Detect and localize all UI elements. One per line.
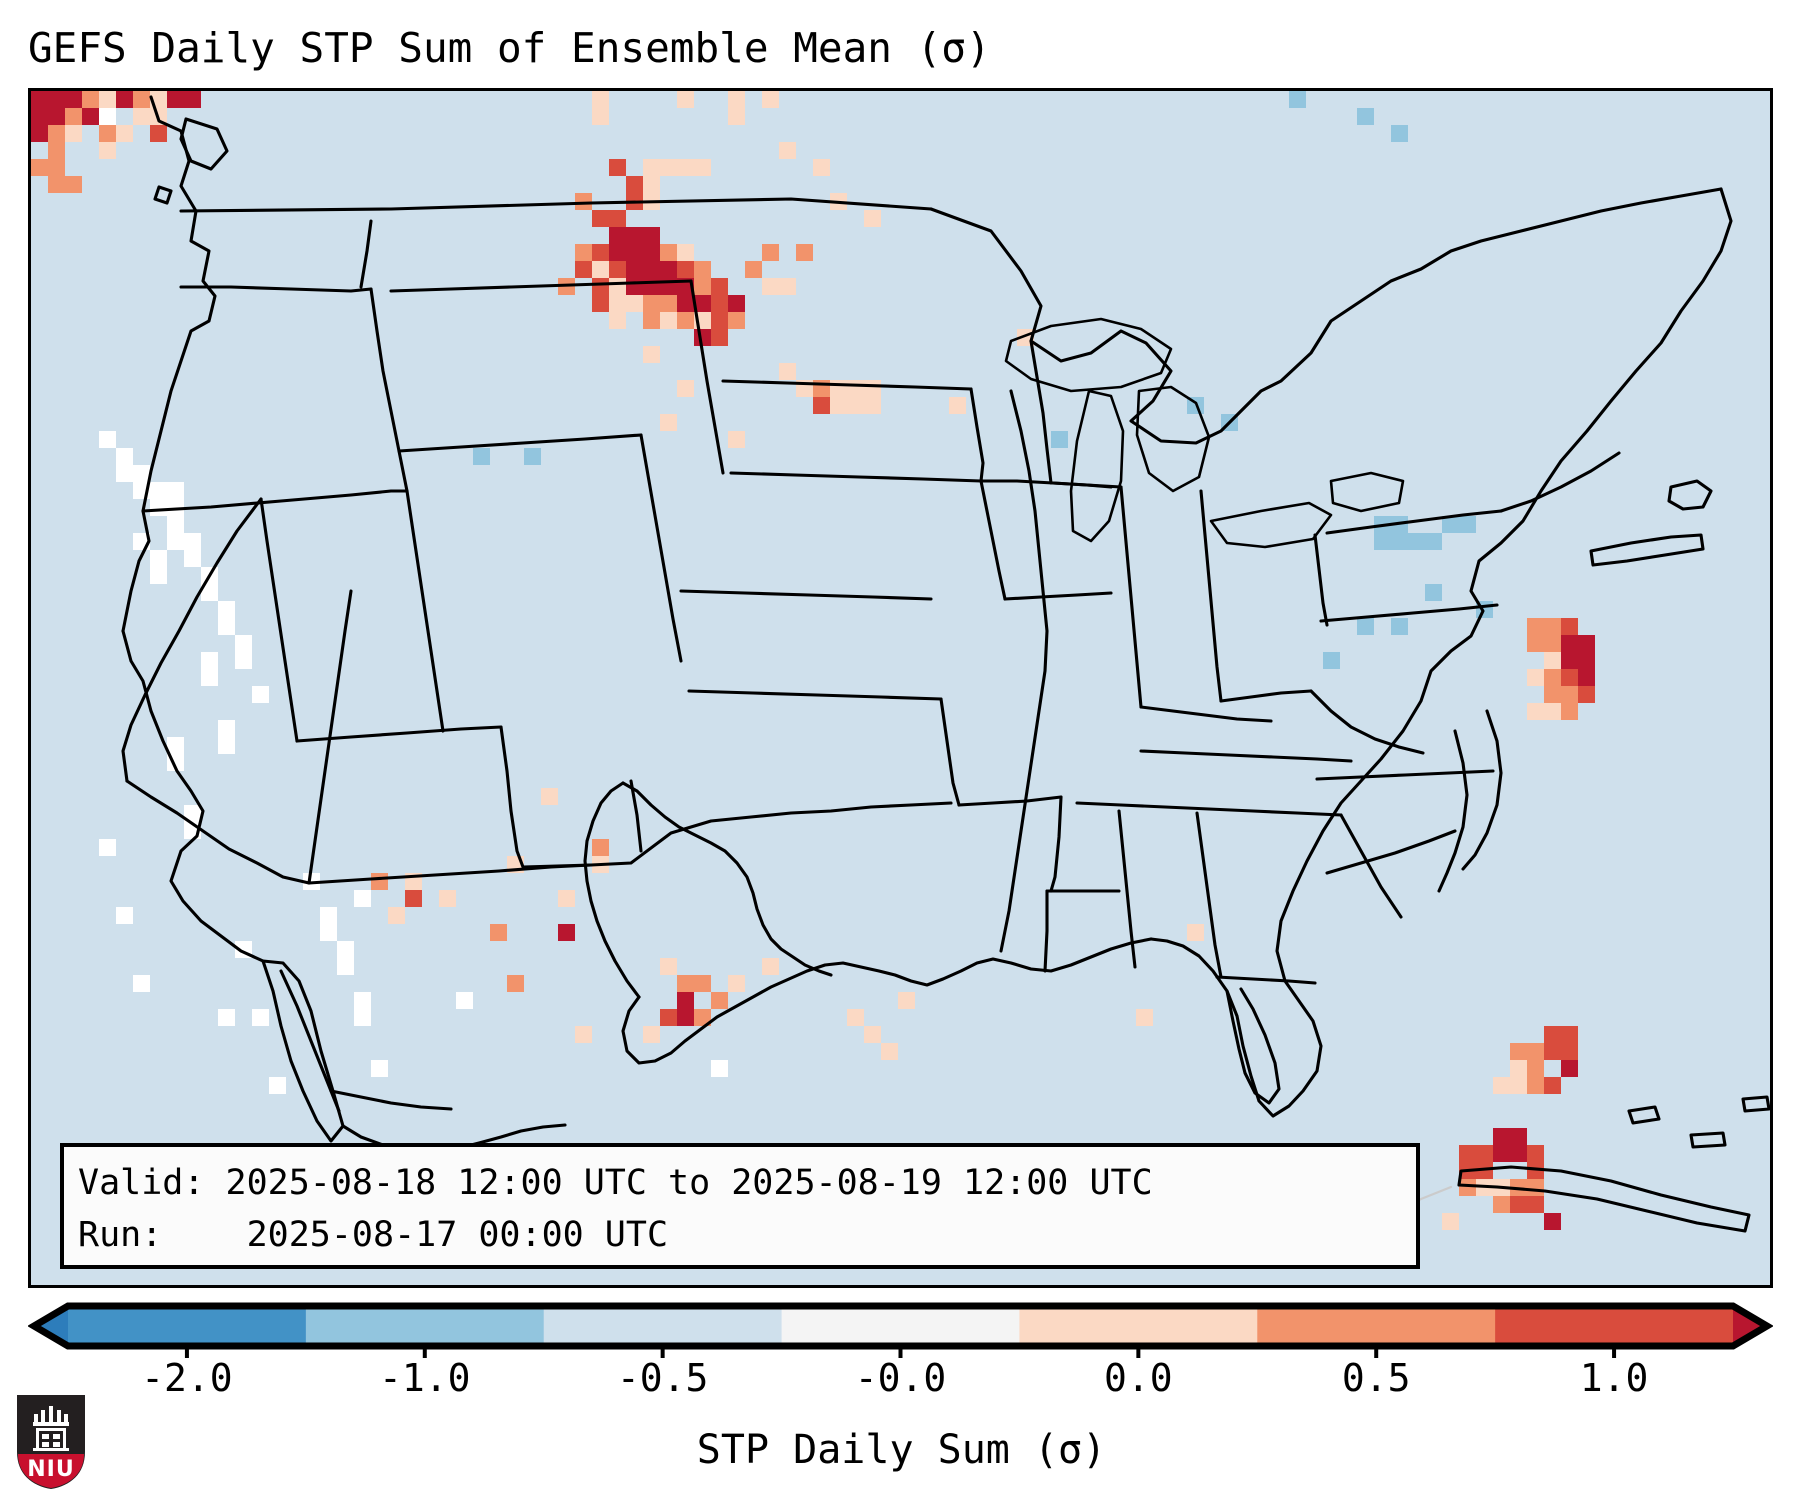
grid-cell: [1493, 1196, 1510, 1213]
grid-cell: [1187, 924, 1204, 941]
grid-cell: [1544, 652, 1561, 669]
grid-cell: [150, 91, 167, 108]
grid-cell: [711, 1060, 728, 1077]
grid-cell: [1442, 1213, 1459, 1230]
grid-cell: [116, 108, 133, 125]
grid-cell: [1544, 1026, 1578, 1060]
grid-cell: [830, 193, 847, 210]
grid-cell: [1527, 669, 1544, 686]
grid-cell: [1442, 516, 1476, 533]
grid-cell: [541, 788, 558, 805]
grid-cell: [575, 1026, 592, 1043]
grid-cell: [762, 244, 779, 261]
grid-cell: [1391, 125, 1408, 142]
grid-cell: [201, 567, 218, 601]
grid-cell: [507, 975, 524, 992]
grid-cell: [269, 1077, 286, 1094]
grid-cell: [643, 346, 660, 363]
grid-cell: [1527, 1060, 1544, 1077]
grid-cell: [592, 261, 609, 278]
grid-cell: [524, 448, 541, 465]
grid-cell: [694, 261, 711, 278]
colorbar-tick-label: 0.0: [1104, 1355, 1173, 1401]
grid-cell: [405, 890, 422, 907]
grid-cell: [320, 907, 337, 941]
grid-cell: [1561, 686, 1578, 703]
grid-cell: [31, 125, 48, 142]
grid-cell: [82, 91, 99, 108]
grid-cell: [745, 261, 762, 278]
grid-cell: [218, 720, 235, 754]
grid-cell: [643, 159, 660, 176]
grid-cell: [660, 1009, 677, 1026]
grid-cell: [1527, 703, 1561, 720]
grid-cell: [558, 278, 575, 295]
logo-text: NIU: [27, 1457, 74, 1482]
grid-cell: [48, 125, 65, 142]
grid-cell: [167, 516, 184, 550]
page-title: GEFS Daily STP Sum of Ensemble Mean (σ): [28, 20, 1788, 76]
grid-cell: [1510, 1196, 1544, 1213]
grid-cell: [575, 261, 592, 278]
grid-cell: [456, 992, 473, 1009]
grid-cell: [677, 380, 694, 397]
niu-logo: NIU: [14, 1392, 88, 1492]
grid-cell: [592, 210, 626, 227]
grid-cell: [694, 312, 711, 329]
grid-cell: [371, 873, 388, 890]
grid-cell: [575, 193, 592, 210]
grid-cell: [201, 652, 218, 686]
grid-cell: [48, 176, 65, 193]
grid-cell: [116, 91, 133, 108]
grid-cell: [677, 91, 694, 108]
colorbar[interactable]: [28, 1300, 1773, 1360]
grid-cell: [1051, 431, 1068, 448]
grid-cell: [1459, 1179, 1476, 1196]
grid-cell: [864, 1026, 881, 1043]
grid-cell: [133, 533, 150, 550]
grid-cell: [1544, 669, 1561, 686]
grid-cell: [65, 108, 82, 125]
colorbar-tick-label: -0.5: [617, 1355, 709, 1401]
grid-cell: [677, 992, 694, 1026]
grid-cell: [235, 941, 252, 958]
grid-cell: [388, 907, 405, 924]
grid-cell: [1510, 1060, 1527, 1077]
grid-cell: [847, 1009, 864, 1026]
grid-cell: [48, 142, 65, 159]
grid-cell: [303, 873, 320, 890]
grid-cell: [694, 329, 711, 346]
grid-cell: [626, 176, 643, 210]
grid-cell: [813, 159, 830, 176]
grid-cell: [116, 125, 133, 142]
colorbar-tick-label: -2.0: [141, 1355, 233, 1401]
grid-cell: [116, 907, 133, 924]
grid-cell: [711, 329, 728, 346]
grid-cell: [252, 1009, 269, 1026]
grid-cell: [728, 312, 745, 329]
grid-cell: [1323, 652, 1340, 669]
grid-cell: [609, 159, 626, 176]
grid-cell: [48, 159, 65, 176]
grid-cell: [1527, 1077, 1544, 1094]
grid-cell: [592, 91, 609, 125]
grid-cell: [1510, 1179, 1544, 1196]
grid-cell: [813, 397, 830, 414]
grid-cell: [609, 312, 626, 329]
valid-run-infobox: Valid: 2025-08-18 12:00 UTC to 2025-08-1…: [60, 1143, 1420, 1269]
grid-cell: [371, 1060, 388, 1077]
grid-cell: [1561, 1060, 1578, 1077]
grid-cell: [1425, 584, 1442, 601]
grid-cell: [218, 601, 235, 635]
figure-canvas: GEFS Daily STP Sum of Ensemble Mean (σ): [0, 0, 1803, 1506]
grid-cell: [728, 91, 745, 125]
grid-cell: [1221, 414, 1238, 431]
grid-cell: [1561, 635, 1595, 669]
grid-cell: [660, 414, 677, 431]
map-axes[interactable]: [28, 88, 1773, 1288]
valid-time-line: Valid: 2025-08-18 12:00 UTC to 2025-08-1…: [78, 1157, 1402, 1209]
grid-cell: [490, 924, 507, 941]
grid-cell: [1459, 1145, 1493, 1179]
grid-cell: [728, 295, 745, 312]
grid-cell: [830, 397, 881, 414]
grid-cell: [626, 278, 694, 295]
grid-cell: [643, 312, 660, 329]
grid-cell: [762, 91, 779, 108]
grid-cell: [660, 159, 677, 176]
grid-cell: [1527, 1145, 1544, 1179]
grid-cell: [677, 244, 694, 261]
grid-cell: [1561, 669, 1578, 686]
grid-cell: [1187, 397, 1204, 414]
grid-cell: [813, 380, 830, 397]
grid-cell: [762, 278, 779, 295]
grid-cell: [1510, 1043, 1544, 1060]
grid-cell: [660, 312, 677, 329]
grid-cell: [898, 992, 915, 1009]
grid-cell: [1493, 1128, 1527, 1162]
grid-cell: [1017, 329, 1034, 346]
grid-cell: [1544, 686, 1561, 703]
grid-cell: [150, 550, 167, 584]
grid-cell: [184, 533, 201, 567]
colorbar-svg: [28, 1300, 1773, 1360]
grid-cell: [1578, 686, 1595, 703]
grid-cell: [99, 431, 116, 448]
grid-cell: [167, 737, 184, 771]
grid-cell: [711, 278, 728, 295]
grid-cell: [1493, 1077, 1527, 1094]
grid-cell: [133, 108, 150, 125]
grid-cell: [1476, 1179, 1510, 1196]
map-grid-layer: [31, 91, 1770, 1285]
grid-cell: [1357, 618, 1374, 635]
grid-cell: [558, 890, 575, 907]
grid-cell: [99, 142, 116, 159]
grid-cell: [218, 1009, 235, 1026]
grid-cell: [694, 1009, 711, 1026]
grid-cell: [405, 873, 422, 890]
grid-cell: [558, 924, 575, 941]
grid-cell: [31, 91, 82, 108]
grid-cell: [677, 312, 694, 329]
grid-cell: [643, 176, 660, 193]
grid-cell: [99, 108, 116, 125]
grid-cell: [881, 1043, 898, 1060]
grid-cell: [1561, 618, 1578, 635]
grid-cell: [167, 91, 201, 108]
grid-cell: [694, 278, 711, 295]
grid-cell: [609, 278, 626, 295]
grid-cell: [575, 244, 592, 261]
grid-cell: [1391, 618, 1408, 635]
grid-cell: [1408, 533, 1442, 550]
grid-cell: [1578, 669, 1595, 686]
grid-cell: [150, 482, 184, 516]
grid-cell: [473, 448, 490, 465]
grid-cell: [1527, 618, 1561, 652]
grid-cell: [677, 261, 694, 278]
grid-cell: [949, 397, 966, 414]
grid-cell: [609, 261, 626, 278]
grid-cell: [779, 278, 796, 295]
grid-cell: [31, 159, 48, 176]
grid-cell: [1476, 601, 1493, 618]
grid-cell: [796, 380, 813, 397]
colorbar-tick-labels: -2.0-1.0-0.5-0.00.00.51.02.0: [0, 1355, 1803, 1415]
grid-cell: [643, 193, 660, 210]
colorbar-axis-label: STP Daily Sum (σ): [0, 1424, 1803, 1476]
grid-cell: [864, 210, 881, 227]
grid-cell: [626, 261, 677, 278]
grid-cell: [779, 363, 796, 380]
grid-cell: [1357, 108, 1374, 125]
grid-cell: [1544, 1077, 1561, 1094]
grid-cell: [133, 91, 150, 108]
grid-cell: [354, 992, 371, 1026]
grid-cell: [1136, 1009, 1153, 1026]
grid-cell: [99, 125, 116, 142]
grid-cell: [1289, 91, 1306, 108]
colorbar-tick-label: 1.0: [1580, 1355, 1649, 1401]
grid-cell: [133, 465, 150, 499]
grid-cell: [711, 295, 728, 312]
grid-cell: [1374, 516, 1408, 550]
grid-cell: [184, 805, 201, 839]
grid-cell: [609, 295, 643, 312]
grid-cell: [150, 125, 167, 142]
grid-cell: [643, 227, 660, 261]
grid-cell: [507, 856, 524, 873]
colorbar-tick-label: -1.0: [379, 1355, 471, 1401]
grid-cell: [82, 108, 99, 125]
grid-cell: [116, 448, 133, 482]
grid-cell: [643, 1026, 660, 1043]
grid-cell: [592, 856, 609, 873]
grid-cell: [728, 975, 745, 992]
grid-cell: [337, 941, 354, 975]
grid-cell: [728, 431, 745, 448]
grid-cell: [592, 295, 609, 312]
grid-cell: [677, 975, 711, 992]
grid-cell: [592, 278, 609, 295]
grid-cell: [133, 975, 150, 992]
grid-cell: [796, 244, 813, 261]
grid-cell: [677, 295, 711, 312]
grid-cell: [65, 125, 82, 142]
grid-cell: [660, 244, 677, 261]
grid-cell: [592, 244, 609, 261]
grid-cell: [1561, 703, 1578, 720]
grid-cell: [252, 686, 269, 703]
grid-cell: [779, 142, 796, 159]
grid-cell: [711, 992, 728, 1009]
colorbar-tick-label: 0.5: [1342, 1355, 1411, 1401]
grid-cell: [660, 958, 677, 975]
grid-cell: [762, 958, 779, 975]
grid-cell: [235, 635, 252, 669]
colorbar-tick-label: -0.0: [855, 1355, 947, 1401]
grid-cell: [99, 91, 116, 108]
grid-cell: [31, 108, 65, 125]
grid-cell: [439, 890, 456, 907]
grid-cell: [830, 380, 864, 397]
grid-cell: [643, 295, 677, 312]
grid-cell: [609, 227, 643, 261]
grid-cell: [354, 890, 371, 907]
grid-cell: [592, 839, 609, 856]
run-time-line: Run: 2025-08-17 00:00 UTC: [78, 1209, 1402, 1261]
grid-cell: [677, 159, 711, 176]
grid-cell: [65, 176, 82, 193]
grid-cell: [150, 108, 167, 125]
grid-cell: [864, 380, 881, 397]
grid-cell: [711, 312, 728, 329]
grid-cell: [1544, 1213, 1561, 1230]
grid-cell: [99, 839, 116, 856]
